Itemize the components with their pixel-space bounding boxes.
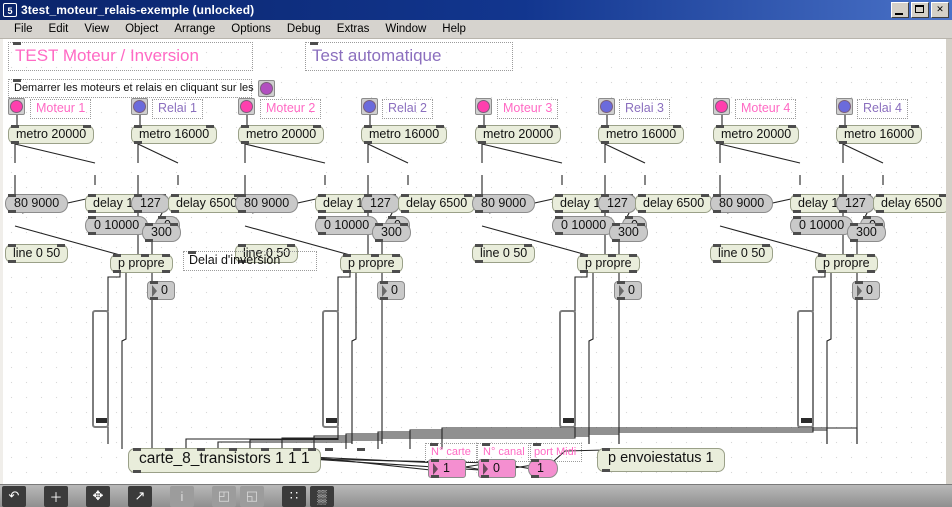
slider-2[interactable] — [322, 310, 339, 428]
patcher-window: 5 3test_moteur_relais-exemple (unlocked)… — [0, 0, 952, 507]
menu-edit[interactable]: Edit — [41, 22, 77, 37]
slider-3[interactable] — [559, 310, 576, 428]
back-icon[interactable]: ◱ — [240, 486, 264, 507]
add-object-icon[interactable]: ＋ — [44, 486, 68, 507]
label-moteur-1: Moteur 1 — [30, 99, 91, 119]
message-speed-2[interactable]: 80 9000 — [235, 194, 298, 213]
message-127-relay-3[interactable]: 127 — [598, 194, 637, 213]
move-icon[interactable]: ✥ — [86, 486, 110, 507]
menu-arrange[interactable]: Arrange — [166, 22, 223, 37]
object-metro-motor-1[interactable]: metro 20000 — [8, 125, 94, 144]
menu-window[interactable]: Window — [377, 22, 434, 37]
object-carte-8-transistors[interactable]: carte_8_transistors 1 1 1 — [128, 448, 321, 473]
subpatch-propre-2[interactable]: p propre — [340, 254, 403, 273]
message-zero-motor-3[interactable]: 0 10000 — [552, 216, 615, 235]
instruction-comment: Demarrer les moteurs et relais en cliqua… — [8, 79, 252, 98]
subpatch-propre-3[interactable]: p propre — [577, 254, 640, 273]
window-controls: ✕ — [891, 2, 949, 18]
close-button[interactable]: ✕ — [931, 2, 949, 18]
menu-bar: File Edit View Object Arrange Options De… — [0, 20, 952, 39]
subpatch-propre-1[interactable]: p propre — [110, 254, 173, 273]
menu-view[interactable]: View — [76, 22, 117, 37]
bang-motor-2[interactable] — [238, 98, 255, 115]
message-127-relay-2[interactable]: 127 — [361, 194, 400, 213]
object-p-envoiestatus[interactable]: p envoiestatus 1 — [597, 448, 725, 472]
menu-object[interactable]: Object — [117, 22, 166, 37]
message-300-4[interactable]: 300 — [847, 223, 886, 242]
object-metro-motor-4[interactable]: metro 20000 — [713, 125, 799, 144]
snap-icon[interactable]: ▒ — [310, 486, 334, 507]
label-moteur-2: Moteur 2 — [260, 99, 321, 119]
bang-motor-4[interactable] — [713, 98, 730, 115]
number-output-1[interactable]: 0 — [147, 281, 175, 300]
message-zero-motor-4[interactable]: 0 10000 — [790, 216, 853, 235]
object-metro-relay-2[interactable]: metro 16000 — [361, 125, 447, 144]
menu-help[interactable]: Help — [434, 22, 474, 37]
message-300-3[interactable]: 300 — [609, 223, 648, 242]
comment-delai-inversion: Delai d'inversion — [183, 251, 317, 271]
message-127-relay-1[interactable]: 127 — [131, 194, 170, 213]
label-moteur-4: Moteur 4 — [735, 99, 796, 119]
number-output-2[interactable]: 0 — [377, 281, 405, 300]
bang-relay-2[interactable] — [361, 98, 378, 115]
bang-motor-3[interactable] — [475, 98, 492, 115]
bang-relay-3[interactable] — [598, 98, 615, 115]
object-delay-relay-2[interactable]: delay 6500 — [398, 194, 475, 213]
bang-motor-1[interactable] — [8, 98, 25, 115]
object-metro-relay-3[interactable]: metro 16000 — [598, 125, 684, 144]
message-300-1[interactable]: 300 — [142, 223, 181, 242]
number-n-carte[interactable]: 1 — [428, 459, 466, 478]
message-300-2[interactable]: 300 — [372, 223, 411, 242]
app-icon: 5 — [3, 3, 17, 17]
message-speed-4[interactable]: 80 9000 — [710, 194, 773, 213]
page-title-left: TEST Moteur / Inversion — [8, 42, 253, 71]
message-speed-3[interactable]: 80 9000 — [472, 194, 535, 213]
object-metro-motor-3[interactable]: metro 20000 — [475, 125, 561, 144]
patch-canvas[interactable]: Moteur 1 metro 20000 80 9000 delay 10000… — [0, 39, 946, 484]
menu-options[interactable]: Options — [223, 22, 279, 37]
message-speed-1[interactable]: 80 9000 — [5, 194, 68, 213]
object-line-3[interactable]: line 0 50 — [472, 244, 535, 263]
edit-mode-icon[interactable]: ↶ — [2, 486, 26, 507]
title-bar: 5 3test_moteur_relais-exemple (unlocked)… — [0, 0, 952, 20]
menu-debug[interactable]: Debug — [279, 22, 329, 37]
menu-extras[interactable]: Extras — [329, 22, 378, 37]
message-zero-motor-1[interactable]: 0 10000 — [85, 216, 148, 235]
label-relai-2: Relai 2 — [382, 99, 433, 119]
minimize-button[interactable] — [891, 2, 909, 18]
object-delay-relay-4[interactable]: delay 6500 — [873, 194, 946, 213]
slider-1[interactable] — [92, 310, 109, 428]
bang-relay-4[interactable] — [836, 98, 853, 115]
signal-icon[interactable]: ↗ — [128, 486, 152, 507]
object-metro-relay-4[interactable]: metro 16000 — [836, 125, 922, 144]
grid-icon[interactable]: ∷ — [282, 486, 306, 507]
number-output-3[interactable]: 0 — [614, 281, 642, 300]
subpatch-propre-4[interactable]: p propre — [815, 254, 878, 273]
bang-start-all[interactable] — [258, 80, 275, 97]
label-relai-4: Relai 4 — [857, 99, 908, 119]
maximize-button[interactable] — [911, 2, 929, 18]
window-title: 3test_moteur_relais-exemple (unlocked) — [21, 3, 254, 17]
object-delay-relay-1[interactable]: delay 6500 — [168, 194, 245, 213]
page-title-right: Test automatique — [305, 42, 513, 71]
object-line-4[interactable]: line 0 50 — [710, 244, 773, 263]
menu-file[interactable]: File — [6, 22, 41, 37]
object-metro-motor-2[interactable]: metro 20000 — [238, 125, 324, 144]
front-icon[interactable]: ◰ — [212, 486, 236, 507]
object-delay-relay-3[interactable]: delay 6500 — [635, 194, 712, 213]
info-icon[interactable]: i — [170, 486, 194, 507]
number-n-canal[interactable]: 0 — [478, 459, 516, 478]
object-line-1[interactable]: line 0 50 — [5, 244, 68, 263]
label-relai-1: Relai 1 — [152, 99, 203, 119]
slider-4[interactable] — [797, 310, 814, 428]
object-metro-relay-1[interactable]: metro 16000 — [131, 125, 217, 144]
message-127-relay-4[interactable]: 127 — [836, 194, 875, 213]
bang-relay-1[interactable] — [131, 98, 148, 115]
number-output-4[interactable]: 0 — [852, 281, 880, 300]
label-relai-3: Relai 3 — [619, 99, 670, 119]
label-moteur-3: Moteur 3 — [497, 99, 558, 119]
bottom-toolbar: ↶ ＋ ✥ ↗ i ◰ ◱ ∷ ▒ — [0, 484, 952, 507]
message-zero-motor-2[interactable]: 0 10000 — [315, 216, 378, 235]
message-port-midi[interactable]: 1 — [528, 459, 558, 478]
